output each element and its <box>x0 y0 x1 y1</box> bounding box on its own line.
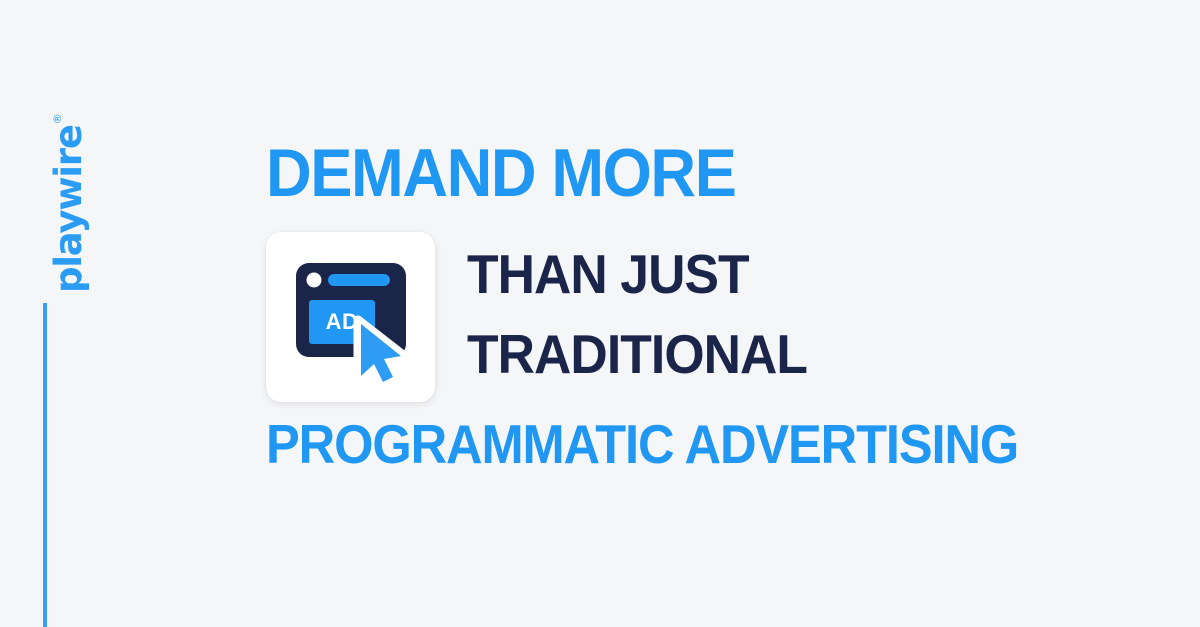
vertical-accent-rule <box>43 303 47 627</box>
headline-line-2: THAN JUST <box>467 247 749 302</box>
headline-line-4: PROGRAMMATIC ADVERTISING <box>266 417 1018 472</box>
playwire-wordmark: playwire <box>50 125 87 293</box>
ad-icon-card: Browser window with AD banner and mouse … <box>266 232 435 402</box>
headline-line-1: DEMAND MORE <box>266 139 735 207</box>
banner-canvas: playwire ® DEMAND MORE THAN JUST TRADITI… <box>0 0 1200 627</box>
ad-click-icon: AD <box>266 232 435 402</box>
registered-trademark-icon: ® <box>52 113 63 124</box>
brand-rail: playwire ® <box>0 0 120 627</box>
playwire-logo[interactable]: playwire ® <box>50 113 87 293</box>
ad-banner-label: AD <box>326 309 359 334</box>
browser-address-bar-shape <box>328 274 390 286</box>
browser-dot-icon <box>307 273 322 288</box>
headline-line-3: TRADITIONAL <box>467 327 807 382</box>
